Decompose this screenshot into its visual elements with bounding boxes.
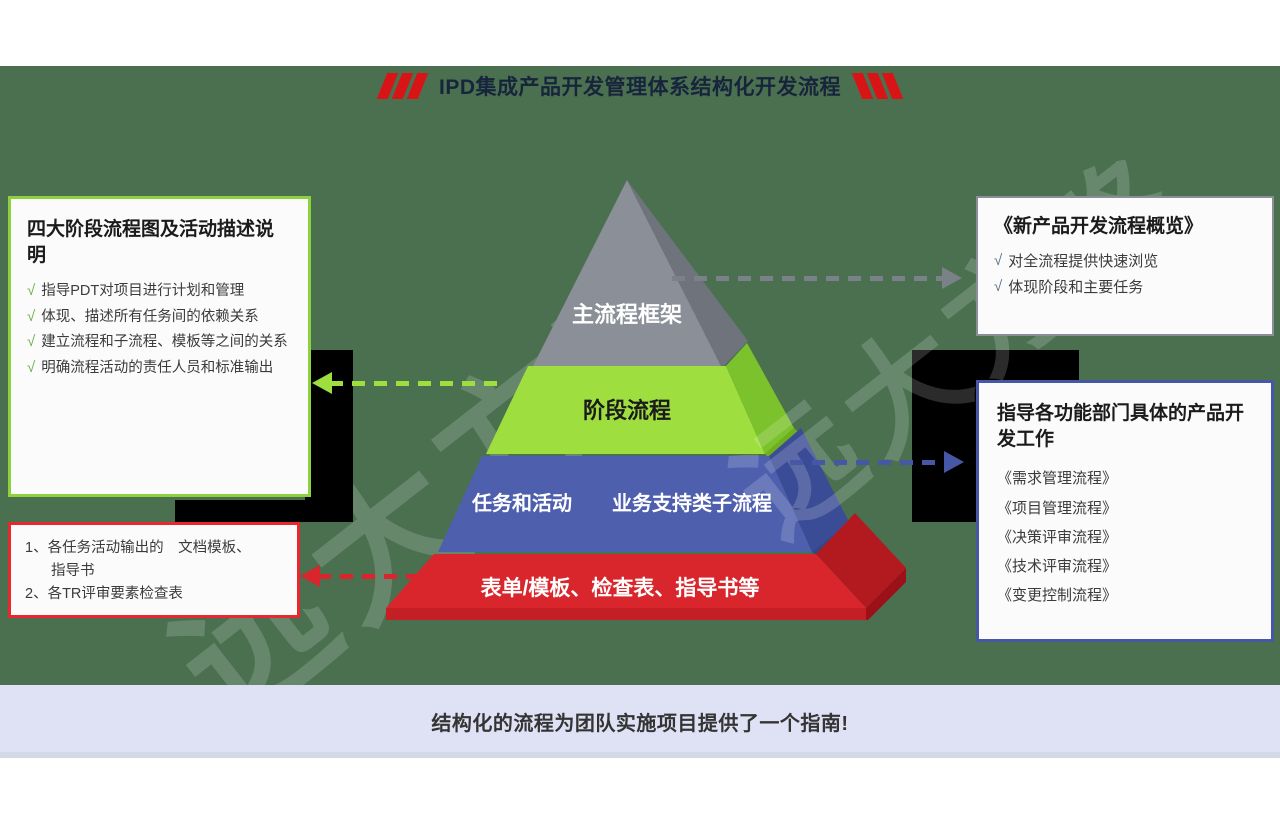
panel-task-outputs: 1、各任务活动输出的 文档模板、 指导书 2、各TR评审要素检查表: [8, 522, 300, 618]
list-item: 《决策评审流程》: [997, 523, 1253, 552]
panel-four-stage-flow: 四大阶段流程图及活动描述说明 √ 指导PDT对项目进行计划和管理 √ 体现、描述…: [8, 196, 311, 497]
panel-tr-list: √ 对全流程提供快速浏览 √ 体现阶段和主要任务: [994, 250, 1256, 300]
panel-br-heading: 指导各功能部门具体的产品开发工作: [997, 401, 1253, 452]
pyramid-diagram: 主流程框架 阶段流程 任务和活动 业务支持类子流程 表单/模板、检查表、指导书等: [350, 170, 910, 620]
list-item: 1、各任务活动输出的 文档模板、: [25, 537, 283, 560]
list-item: √ 建立流程和子流程、模板等之间的关系: [27, 331, 292, 354]
list-item: 2、各TR评审要素检查表: [25, 583, 283, 606]
panel-tl-heading: 四大阶段流程图及活动描述说明: [27, 217, 292, 268]
list-item: √ 体现、描述所有任务间的依赖关系: [27, 306, 292, 329]
check-icon: √: [27, 306, 35, 329]
panel-tr-heading: 《新产品开发流程概览》: [994, 214, 1256, 240]
arrow-to-bottom-left-panel: [300, 565, 420, 587]
list-item: 《技术评审流程》: [997, 552, 1253, 581]
arrow-to-top-left-panel: [312, 372, 504, 394]
panel-functional-department-guide: 指导各功能部门具体的产品开发工作 《需求管理流程》 《项目管理流程》 《决策评审…: [976, 380, 1274, 642]
slide-title-row: IPD集成产品开发管理体系结构化开发流程: [0, 66, 1280, 106]
list-item: √ 指导PDT对项目进行计划和管理: [27, 280, 292, 303]
pyramid-label-3: 任务和活动 业务支持类子流程: [471, 491, 772, 515]
footer-shadow: [0, 752, 1280, 758]
list-item: √ 明确流程活动的责任人员和标准输出: [27, 357, 292, 380]
list-item: 《项目管理流程》: [997, 494, 1253, 523]
check-icon: √: [27, 331, 35, 354]
check-icon: √: [27, 357, 35, 380]
pyramid-label-1: 主流程框架: [572, 302, 682, 327]
list-item: 《变更控制流程》: [997, 581, 1253, 610]
footer-banner: 结构化的流程为团队实施项目提供了一个指南!: [0, 685, 1280, 757]
list-item: 指导书: [25, 560, 283, 583]
list-item: √ 体现阶段和主要任务: [994, 276, 1256, 299]
panel-bl-list: 1、各任务活动输出的 文档模板、 指导书 2、各TR评审要素检查表: [25, 537, 283, 607]
chevron-left-decoration: [382, 73, 423, 99]
slide-canvas: 远大方略 IPD集成产品开发管理体系结构化开发流程: [0, 0, 1280, 837]
panel-new-product-overview: 《新产品开发流程概览》 √ 对全流程提供快速浏览 √ 体现阶段和主要任务: [976, 196, 1274, 336]
check-icon: √: [27, 280, 35, 303]
list-item: 《需求管理流程》: [997, 464, 1253, 493]
pyramid-label-4: 表单/模板、检查表、指导书等: [481, 576, 760, 600]
arrow-to-bottom-right-panel: [790, 451, 964, 473]
page-title: IPD集成产品开发管理体系结构化开发流程: [439, 71, 841, 101]
redaction-block-left-2: [175, 500, 353, 522]
list-item: √ 对全流程提供快速浏览: [994, 250, 1256, 273]
pyramid-label-2: 阶段流程: [583, 398, 671, 423]
panel-tl-list: √ 指导PDT对项目进行计划和管理 √ 体现、描述所有任务间的依赖关系 √ 建立…: [27, 280, 292, 379]
arrow-to-top-right-panel: [672, 267, 962, 289]
check-icon: √: [994, 276, 1002, 299]
check-icon: √: [994, 250, 1002, 273]
footer-text: 结构化的流程为团队实施项目提供了一个指南!: [431, 707, 848, 736]
chevron-right-decoration: [857, 73, 898, 99]
